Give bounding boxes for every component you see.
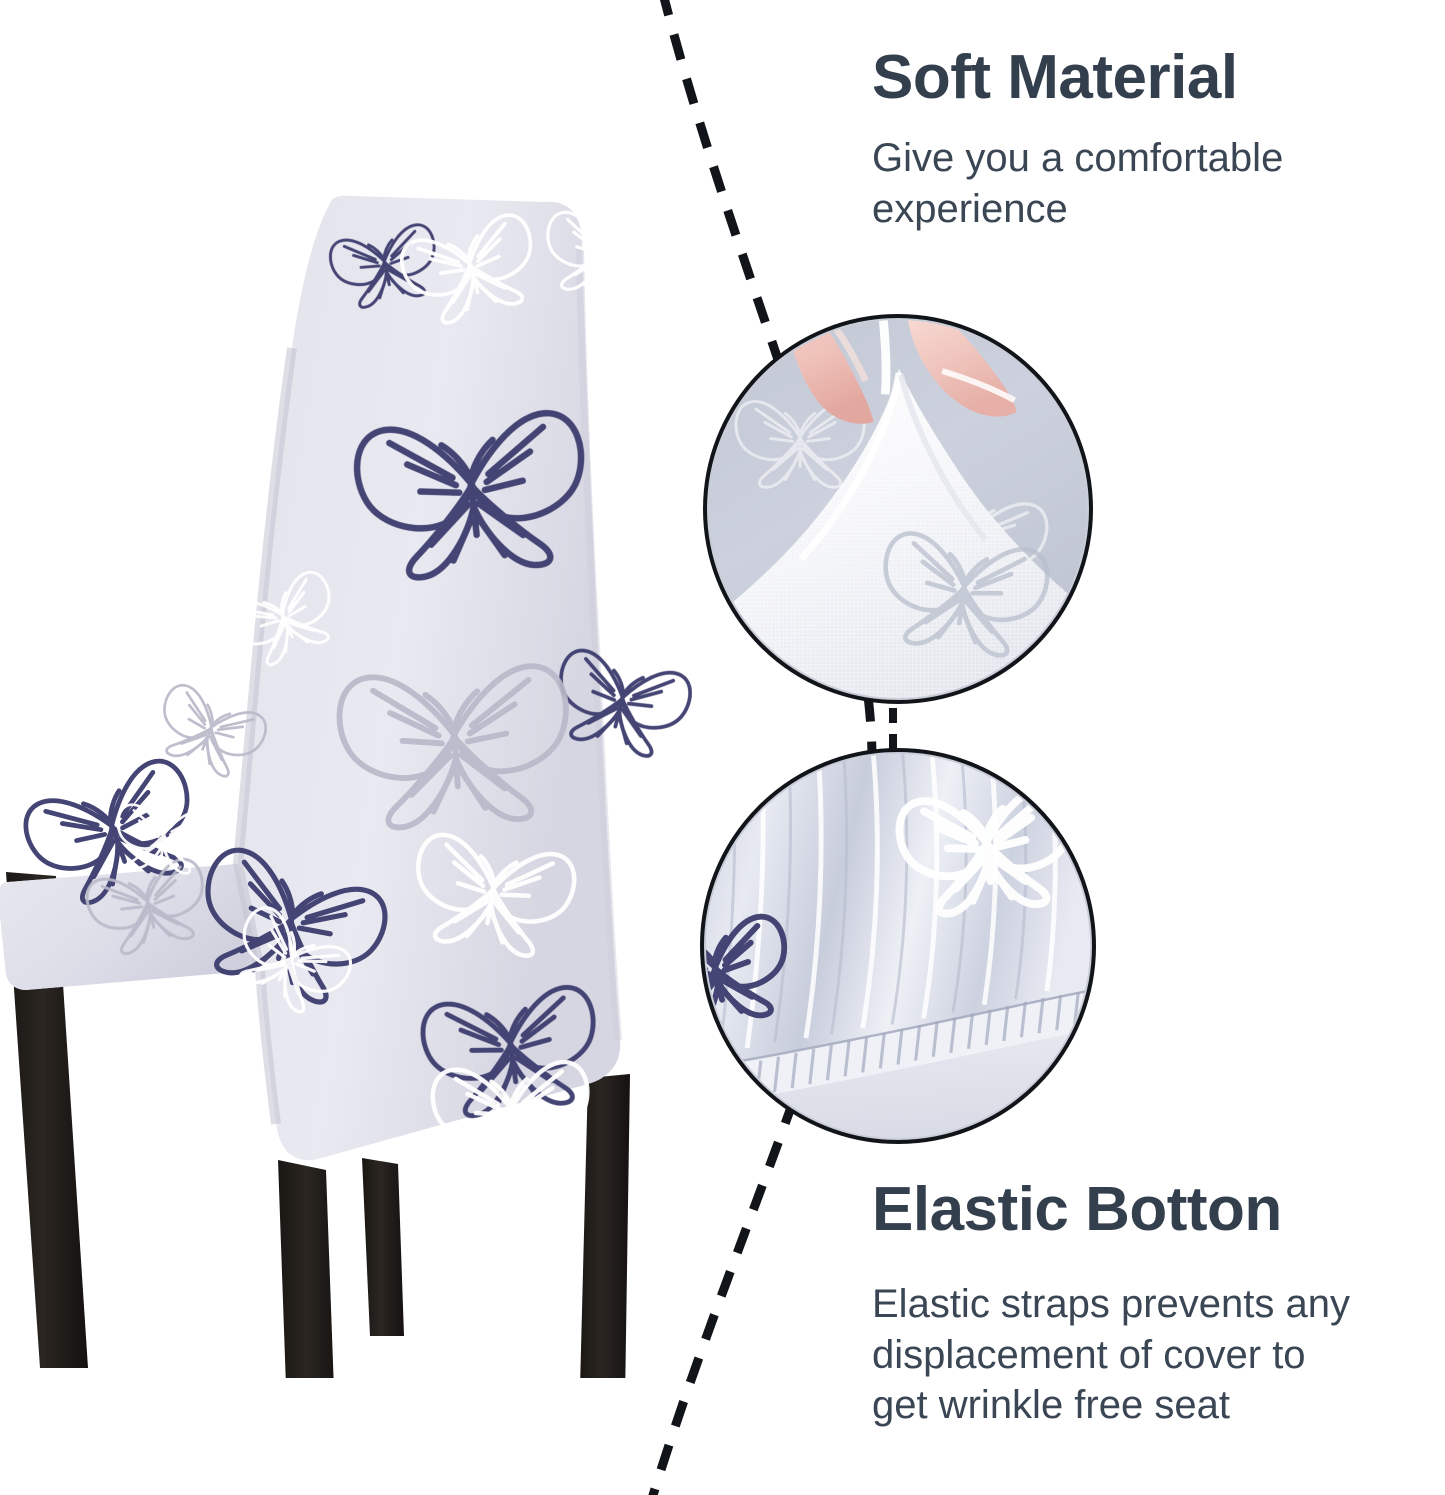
- infographic-stage: Soft Material Give you a comfortable exp…: [0, 0, 1445, 1495]
- feature-description-soft-material: Give you a comfortable experience: [872, 133, 1412, 234]
- feature-title-soft-material: Soft Material: [872, 46, 1412, 109]
- feature-description-line: experience: [872, 187, 1068, 231]
- feature-description-line: Elastic straps prevents any: [872, 1282, 1350, 1326]
- inset-elastic-bottom-photo: [700, 748, 1096, 1144]
- inset-connector-dashes: [889, 708, 897, 750]
- feature-block-soft-material: Soft Material Give you a comfortable exp…: [872, 46, 1412, 234]
- inset-soft-material-photo: [703, 314, 1093, 704]
- feature-description-line: Give you a comfortable: [872, 136, 1283, 180]
- feature-description-elastic-bottom: Elastic straps prevents any displacement…: [872, 1279, 1432, 1430]
- product-image-chair: [0, 178, 692, 1378]
- feature-description-line: get wrinkle free seat: [872, 1383, 1230, 1427]
- feature-block-elastic-bottom: Elastic Botton Elastic straps prevents a…: [872, 1178, 1432, 1430]
- feature-description-line: displacement of cover to: [872, 1333, 1306, 1377]
- feature-title-elastic-bottom: Elastic Botton: [872, 1178, 1432, 1241]
